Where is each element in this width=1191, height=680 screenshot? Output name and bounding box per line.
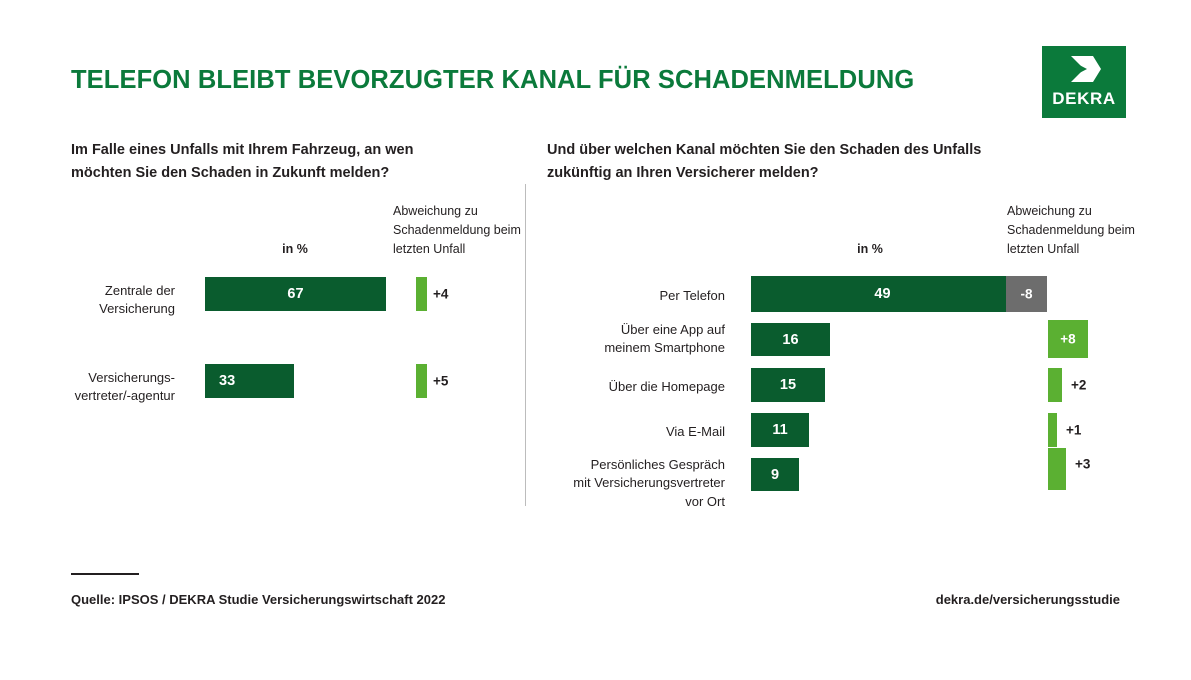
right-category-label-2: Über eine App auf meinem Smartphone	[545, 321, 725, 358]
right-deviation-header: Abweichung zu Schadenmeldung beim letzte…	[1007, 202, 1142, 258]
right-deviation-label-5: +3	[1075, 457, 1090, 472]
left-bar-1: 67	[205, 277, 386, 311]
left-bar-value-1: 67	[205, 286, 386, 302]
right-category-label-5-line2: mit Versicherungsvertreter	[545, 474, 725, 492]
right-bar-1: 49	[751, 276, 1014, 312]
right-category-label-2-line1: Über eine App auf	[545, 321, 725, 339]
right-bar-5: 9	[751, 458, 799, 491]
left-category-label-2-line2: vertreter/-agentur	[21, 387, 175, 405]
left-percent-header: in %	[225, 240, 365, 259]
left-bar-2: 33	[205, 364, 294, 398]
left-chart-panel: Im Falle eines Unfalls mit Ihrem Fahrzeu…	[0, 0, 525, 680]
right-deviation-bar-4	[1048, 413, 1057, 447]
right-deviation-label-2: +8	[1048, 332, 1088, 347]
left-deviation-bar-1	[416, 277, 427, 311]
left-question: Im Falle eines Unfalls mit Ihrem Fahrzeu…	[71, 139, 431, 185]
right-category-label-1: Per Telefon	[545, 287, 725, 305]
right-bar-3: 15	[751, 368, 825, 402]
right-category-label-1-line1: Per Telefon	[545, 287, 725, 305]
right-bar-value-1: 49	[751, 286, 1014, 302]
right-category-label-4-line1: Via E-Mail	[545, 423, 725, 441]
right-bar-value-4: 11	[751, 422, 809, 438]
right-deviation-label-4: +1	[1066, 423, 1081, 438]
right-deviation-label-3: +2	[1071, 378, 1086, 393]
right-bar-value-5: 9	[751, 467, 799, 483]
right-category-label-5-line1: Persönliches Gespräch	[545, 456, 725, 474]
left-deviation-bar-2	[416, 364, 427, 398]
right-deviation-bar-1: -8	[1006, 276, 1047, 312]
right-deviation-bar-3	[1048, 368, 1062, 402]
right-percent-header: in %	[800, 240, 940, 259]
right-deviation-bar-2: +8	[1048, 320, 1088, 358]
right-category-label-2-line2: meinem Smartphone	[545, 339, 725, 357]
right-deviation-bar-5	[1048, 448, 1066, 490]
left-category-label-2-line1: Versicherungs-	[21, 369, 175, 387]
footer-source: Quelle: IPSOS / DEKRA Studie Versicherun…	[71, 592, 445, 607]
right-bar-2: 16	[751, 323, 830, 356]
left-deviation-header: Abweichung zu Schadenmeldung beim letzte…	[393, 202, 528, 258]
left-category-label-1-line1: Zentrale der	[31, 282, 175, 300]
right-category-label-3-line1: Über die Homepage	[545, 378, 725, 396]
right-bar-value-2: 16	[751, 332, 830, 348]
left-bar-value-2: 33	[219, 373, 235, 389]
footer-url[interactable]: dekra.de/versicherungsstudie	[936, 592, 1120, 607]
infographic-page: TELEFON BLEIBT BEVORZUGTER KANAL FÜR SCH…	[0, 0, 1191, 680]
right-category-label-5-line3: vor Ort	[545, 493, 725, 511]
left-deviation-label-1: +4	[433, 287, 448, 302]
left-category-label-1: Zentrale der Versicherung	[31, 282, 175, 319]
right-category-label-4: Via E-Mail	[545, 423, 725, 441]
right-chart-panel: Und über welchen Kanal möchten Sie den S…	[525, 0, 1191, 680]
left-category-label-1-line2: Versicherung	[31, 300, 175, 318]
right-question: Und über welchen Kanal möchten Sie den S…	[547, 139, 1047, 185]
right-deviation-label-1: -8	[1006, 287, 1047, 302]
right-bar-4: 11	[751, 413, 809, 447]
right-category-label-3: Über die Homepage	[545, 378, 725, 396]
left-category-label-2: Versicherungs- vertreter/-agentur	[21, 369, 175, 406]
right-category-label-5: Persönliches Gespräch mit Versicherungsv…	[545, 456, 725, 511]
left-deviation-label-2: +5	[433, 374, 448, 389]
footer-divider	[71, 573, 139, 575]
right-bar-value-3: 15	[751, 377, 825, 393]
